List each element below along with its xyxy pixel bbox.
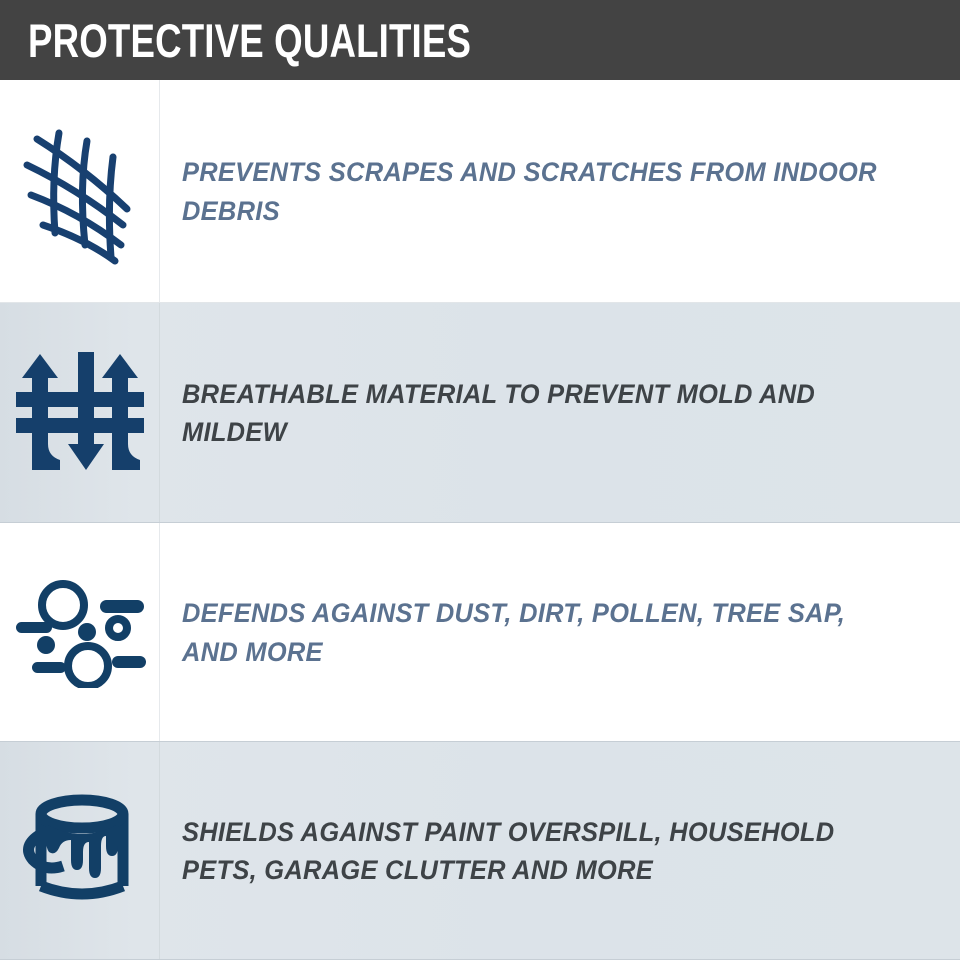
feature-row: DEFENDS AGAINST DUST, DIRT, POLLEN, TREE… bbox=[0, 523, 960, 742]
protective-qualities-infographic: PROTECTIVE QUALITIES bbox=[0, 0, 960, 960]
icon-cell bbox=[0, 80, 160, 303]
icon-cell bbox=[0, 303, 160, 523]
text-cell: BREATHABLE MATERIAL TO PREVENT MOLD AND … bbox=[160, 303, 960, 523]
woven-mesh-icon bbox=[15, 117, 145, 267]
text-cell: SHIELDS AGAINST PAINT OVERSPILL, HOUSEHO… bbox=[160, 742, 960, 960]
feature-text: SHIELDS AGAINST PAINT OVERSPILL, HOUSEHO… bbox=[182, 813, 906, 890]
row-divider bbox=[0, 522, 960, 523]
breathable-airflow-arrows-icon bbox=[16, 348, 144, 478]
text-cell: DEFENDS AGAINST DUST, DIRT, POLLEN, TREE… bbox=[160, 523, 960, 742]
feature-text: PREVENTS SCRAPES AND SCRATCHES FROM INDO… bbox=[182, 153, 906, 230]
feature-text: BREATHABLE MATERIAL TO PREVENT MOLD AND … bbox=[182, 375, 906, 452]
feature-row: SHIELDS AGAINST PAINT OVERSPILL, HOUSEHO… bbox=[0, 742, 960, 960]
icon-cell bbox=[0, 523, 160, 742]
header-bar: PROTECTIVE QUALITIES bbox=[0, 0, 960, 80]
feature-row: PREVENTS SCRAPES AND SCRATCHES FROM INDO… bbox=[0, 80, 960, 303]
row-divider bbox=[0, 741, 960, 742]
paint-can-drips-icon bbox=[19, 790, 141, 912]
row-divider bbox=[0, 302, 960, 303]
icon-cell bbox=[0, 742, 160, 960]
feature-text: DEFENDS AGAINST DUST, DIRT, POLLEN, TREE… bbox=[182, 594, 906, 671]
page-title: PROTECTIVE QUALITIES bbox=[28, 17, 471, 64]
dust-particles-icon bbox=[10, 578, 150, 688]
feature-list: PREVENTS SCRAPES AND SCRATCHES FROM INDO… bbox=[0, 80, 960, 960]
text-cell: PREVENTS SCRAPES AND SCRATCHES FROM INDO… bbox=[160, 80, 960, 303]
feature-row: BREATHABLE MATERIAL TO PREVENT MOLD AND … bbox=[0, 303, 960, 523]
